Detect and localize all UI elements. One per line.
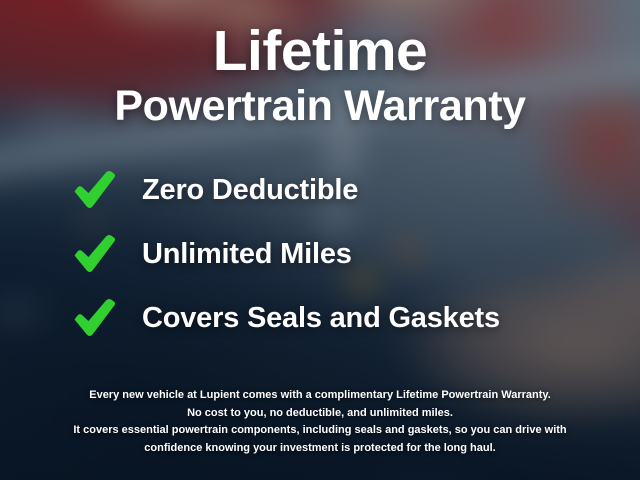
feature-item-unlimited-miles: Unlimited Miles	[72, 222, 640, 286]
feature-item-covers-seals-and-gaskets: Covers Seals and Gaskets	[72, 286, 640, 350]
fineprint-line-2: No cost to you, no deductible, and unlim…	[34, 405, 606, 423]
headline-line-1: Lifetime	[0, 24, 640, 80]
feature-list: Zero Deductible Unlimited Miles Covers S…	[0, 158, 640, 350]
feature-label: Zero Deductible	[142, 174, 358, 207]
fineprint-line-1: Every new vehicle at Lupient comes with …	[34, 387, 606, 405]
banner-content: Lifetime Powertrain Warranty Zero Deduct…	[0, 0, 640, 480]
feature-item-zero-deductible: Zero Deductible	[72, 158, 640, 222]
check-icon	[72, 170, 116, 210]
feature-label: Unlimited Miles	[142, 238, 352, 271]
check-icon	[72, 234, 116, 274]
headline: Lifetime Powertrain Warranty	[0, 0, 640, 130]
check-icon	[72, 298, 116, 338]
fineprint-line-3: It covers essential powertrain component…	[34, 422, 606, 440]
headline-line-2: Powertrain Warranty	[0, 82, 640, 130]
lifetime-powertrain-warranty-banner: Lifetime Powertrain Warranty Zero Deduct…	[0, 0, 640, 480]
feature-label: Covers Seals and Gaskets	[142, 302, 500, 335]
fineprint-line-4: confidence knowing your investment is pr…	[34, 440, 606, 458]
fineprint: Every new vehicle at Lupient comes with …	[0, 387, 640, 458]
